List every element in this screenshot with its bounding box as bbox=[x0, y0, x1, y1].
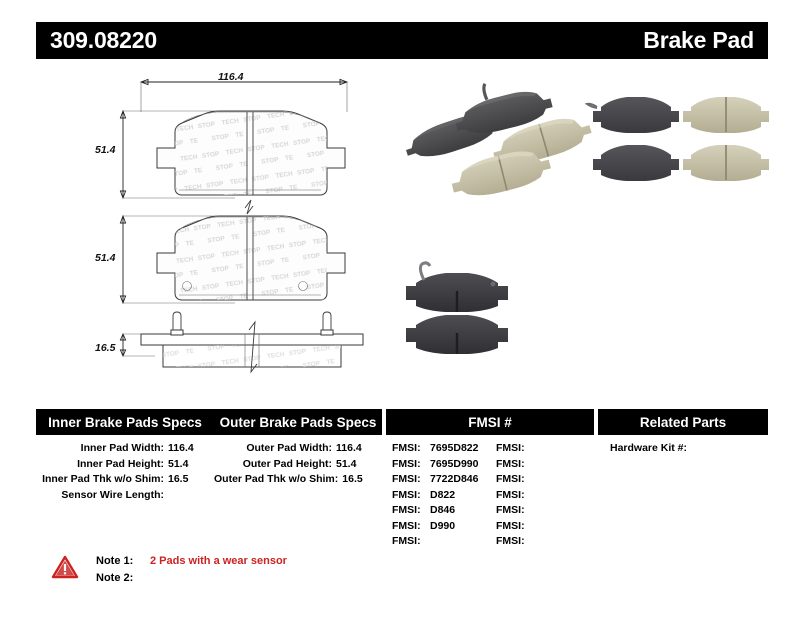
table-body: Inner Pad Width: 116.4 Inner Pad Height:… bbox=[36, 441, 768, 550]
fmsi-value: D822 bbox=[426, 488, 490, 504]
spec-label: Outer Pad Width: bbox=[214, 441, 332, 457]
spec-row: Outer Pad Height: 51.4 bbox=[214, 457, 382, 473]
dimension-width-top: 116.4 bbox=[218, 71, 244, 83]
header-related-parts: Related Parts bbox=[598, 409, 768, 435]
photo-pads-flat bbox=[583, 87, 763, 187]
spec-row: Inner Pad Width: 116.4 bbox=[36, 441, 214, 457]
fmsi-subcolumn-left: FMSI: 7695D822 FMSI: 7695D990 FMSI: 7722… bbox=[386, 441, 490, 550]
spec-label: Inner Pad Width: bbox=[36, 441, 164, 457]
header-fmsi: FMSI # bbox=[386, 409, 594, 435]
pad-plan-view-1: STOP TECH STOP TECH bbox=[95, 70, 395, 205]
spec-row: Inner Pad Height: 51.4 bbox=[36, 457, 214, 473]
product-category: Brake Pad bbox=[643, 27, 754, 54]
fmsi-label: FMSI: bbox=[386, 457, 426, 473]
dimension-height-second: 51.4 bbox=[95, 252, 115, 264]
fmsi-value bbox=[426, 534, 490, 550]
fmsi-row: FMSI: bbox=[490, 503, 594, 519]
fmsi-row: FMSI: 7695D990 bbox=[386, 457, 490, 473]
fmsi-label: FMSI: bbox=[386, 534, 426, 550]
spec-value: 16.5 bbox=[338, 472, 382, 488]
fmsi-value bbox=[530, 488, 594, 504]
notes-text: Note 1: 2 Pads with a wear sensor Note 2… bbox=[96, 553, 287, 587]
fmsi-value bbox=[530, 457, 594, 473]
fmsi-row: FMSI: bbox=[386, 534, 490, 550]
fmsi-label: FMSI: bbox=[386, 488, 426, 504]
fmsi-label: FMSI: bbox=[490, 457, 530, 473]
dimension-height-top: 51.4 bbox=[95, 144, 115, 156]
photo-pads-angled bbox=[398, 82, 588, 197]
fmsi-row: FMSI: bbox=[490, 472, 594, 488]
spec-table: Inner Brake Pads Specs Outer Brake Pads … bbox=[36, 409, 768, 550]
fmsi-label: FMSI: bbox=[490, 488, 530, 504]
note-label: Note 2: bbox=[96, 570, 144, 587]
fmsi-value: D846 bbox=[426, 503, 490, 519]
note-row: Note 2: bbox=[96, 570, 287, 587]
fmsi-label: FMSI: bbox=[490, 441, 530, 457]
photo-pads-edge bbox=[398, 258, 578, 363]
fmsi-row: FMSI: bbox=[490, 534, 594, 550]
fmsi-row: FMSI: D822 bbox=[386, 488, 490, 504]
spec-label: Inner Pad Thk w/o Shim: bbox=[36, 472, 164, 488]
spec-value: 51.4 bbox=[164, 457, 214, 473]
spec-value: 51.4 bbox=[332, 457, 382, 473]
fmsi-label: FMSI: bbox=[386, 441, 426, 457]
fmsi-value: 7695D822 bbox=[426, 441, 490, 457]
drawing-area: STOP TECH STOP TECH bbox=[0, 62, 800, 392]
table-header-row: Inner Brake Pads Specs Outer Brake Pads … bbox=[36, 409, 768, 435]
fmsi-value: 7722D846 bbox=[426, 472, 490, 488]
fmsi-value bbox=[530, 441, 594, 457]
fmsi-subcolumn-right: FMSI: FMSI: FMSI: FMSI: bbox=[490, 441, 594, 550]
fmsi-column: FMSI: 7695D822 FMSI: 7695D990 FMSI: 7722… bbox=[386, 441, 594, 550]
fmsi-label: FMSI: bbox=[386, 503, 426, 519]
fmsi-value bbox=[530, 503, 594, 519]
spec-value: 116.4 bbox=[332, 441, 382, 457]
fmsi-row: FMSI: bbox=[490, 519, 594, 535]
pad-plan-view-2 bbox=[95, 202, 395, 322]
notes-section: Note 1: 2 Pads with a wear sensor Note 2… bbox=[52, 553, 287, 587]
header-outer-specs: Outer Brake Pads Specs bbox=[214, 409, 382, 435]
note-row: Note 1: 2 Pads with a wear sensor bbox=[96, 553, 287, 570]
fmsi-label: FMSI: bbox=[490, 534, 530, 550]
fmsi-label: FMSI: bbox=[490, 503, 530, 519]
fmsi-label: FMSI: bbox=[490, 519, 530, 535]
fmsi-value bbox=[530, 534, 594, 550]
spec-label: Sensor Wire Length: bbox=[36, 488, 164, 504]
fmsi-label: FMSI: bbox=[490, 472, 530, 488]
header-inner-specs: Inner Brake Pads Specs bbox=[36, 409, 214, 435]
title-bar: 309.08220 Brake Pad bbox=[36, 22, 768, 59]
pad-edge-view bbox=[95, 310, 395, 380]
dimension-thickness: 16.5 bbox=[95, 342, 115, 354]
fmsi-value bbox=[530, 519, 594, 535]
spec-value: 116.4 bbox=[164, 441, 214, 457]
fmsi-label: FMSI: bbox=[386, 519, 426, 535]
fmsi-row: FMSI: D990 bbox=[386, 519, 490, 535]
fmsi-label: FMSI: bbox=[386, 472, 426, 488]
spec-row: Inner Pad Thk w/o Shim: 16.5 bbox=[36, 472, 214, 488]
fmsi-row: FMSI: D846 bbox=[386, 503, 490, 519]
spec-row: Outer Pad Thk w/o Shim: 16.5 bbox=[214, 472, 382, 488]
part-number: 309.08220 bbox=[50, 27, 157, 54]
note-value: 2 Pads with a wear sensor bbox=[144, 553, 287, 570]
spec-label: Inner Pad Height: bbox=[36, 457, 164, 473]
fmsi-row: FMSI: bbox=[490, 457, 594, 473]
spec-row: Outer Pad Width: 116.4 bbox=[214, 441, 382, 457]
spec-label: Outer Pad Thk w/o Shim: bbox=[214, 472, 338, 488]
fmsi-row: FMSI: 7695D822 bbox=[386, 441, 490, 457]
spec-value: 16.5 bbox=[164, 472, 214, 488]
fmsi-row: FMSI: bbox=[490, 441, 594, 457]
inner-specs-column: Inner Pad Width: 116.4 Inner Pad Height:… bbox=[36, 441, 214, 550]
related-parts-column: Hardware Kit #: bbox=[598, 441, 768, 550]
outer-specs-column: Outer Pad Width: 116.4 Outer Pad Height:… bbox=[214, 441, 382, 550]
fmsi-value: D990 bbox=[426, 519, 490, 535]
fmsi-value bbox=[530, 472, 594, 488]
spec-value bbox=[164, 488, 214, 504]
fmsi-row: FMSI: bbox=[490, 488, 594, 504]
warning-icon bbox=[52, 555, 78, 579]
spec-sheet: 309.08220 Brake Pad STOP TECH STOP TECH bbox=[0, 0, 800, 619]
related-part-row: Hardware Kit #: bbox=[598, 441, 768, 457]
fmsi-row: FMSI: 7722D846 bbox=[386, 472, 490, 488]
spec-label: Outer Pad Height: bbox=[214, 457, 332, 473]
note-value bbox=[144, 570, 150, 587]
spec-row: Sensor Wire Length: bbox=[36, 488, 214, 504]
note-label: Note 1: bbox=[96, 553, 144, 570]
fmsi-value: 7695D990 bbox=[426, 457, 490, 473]
